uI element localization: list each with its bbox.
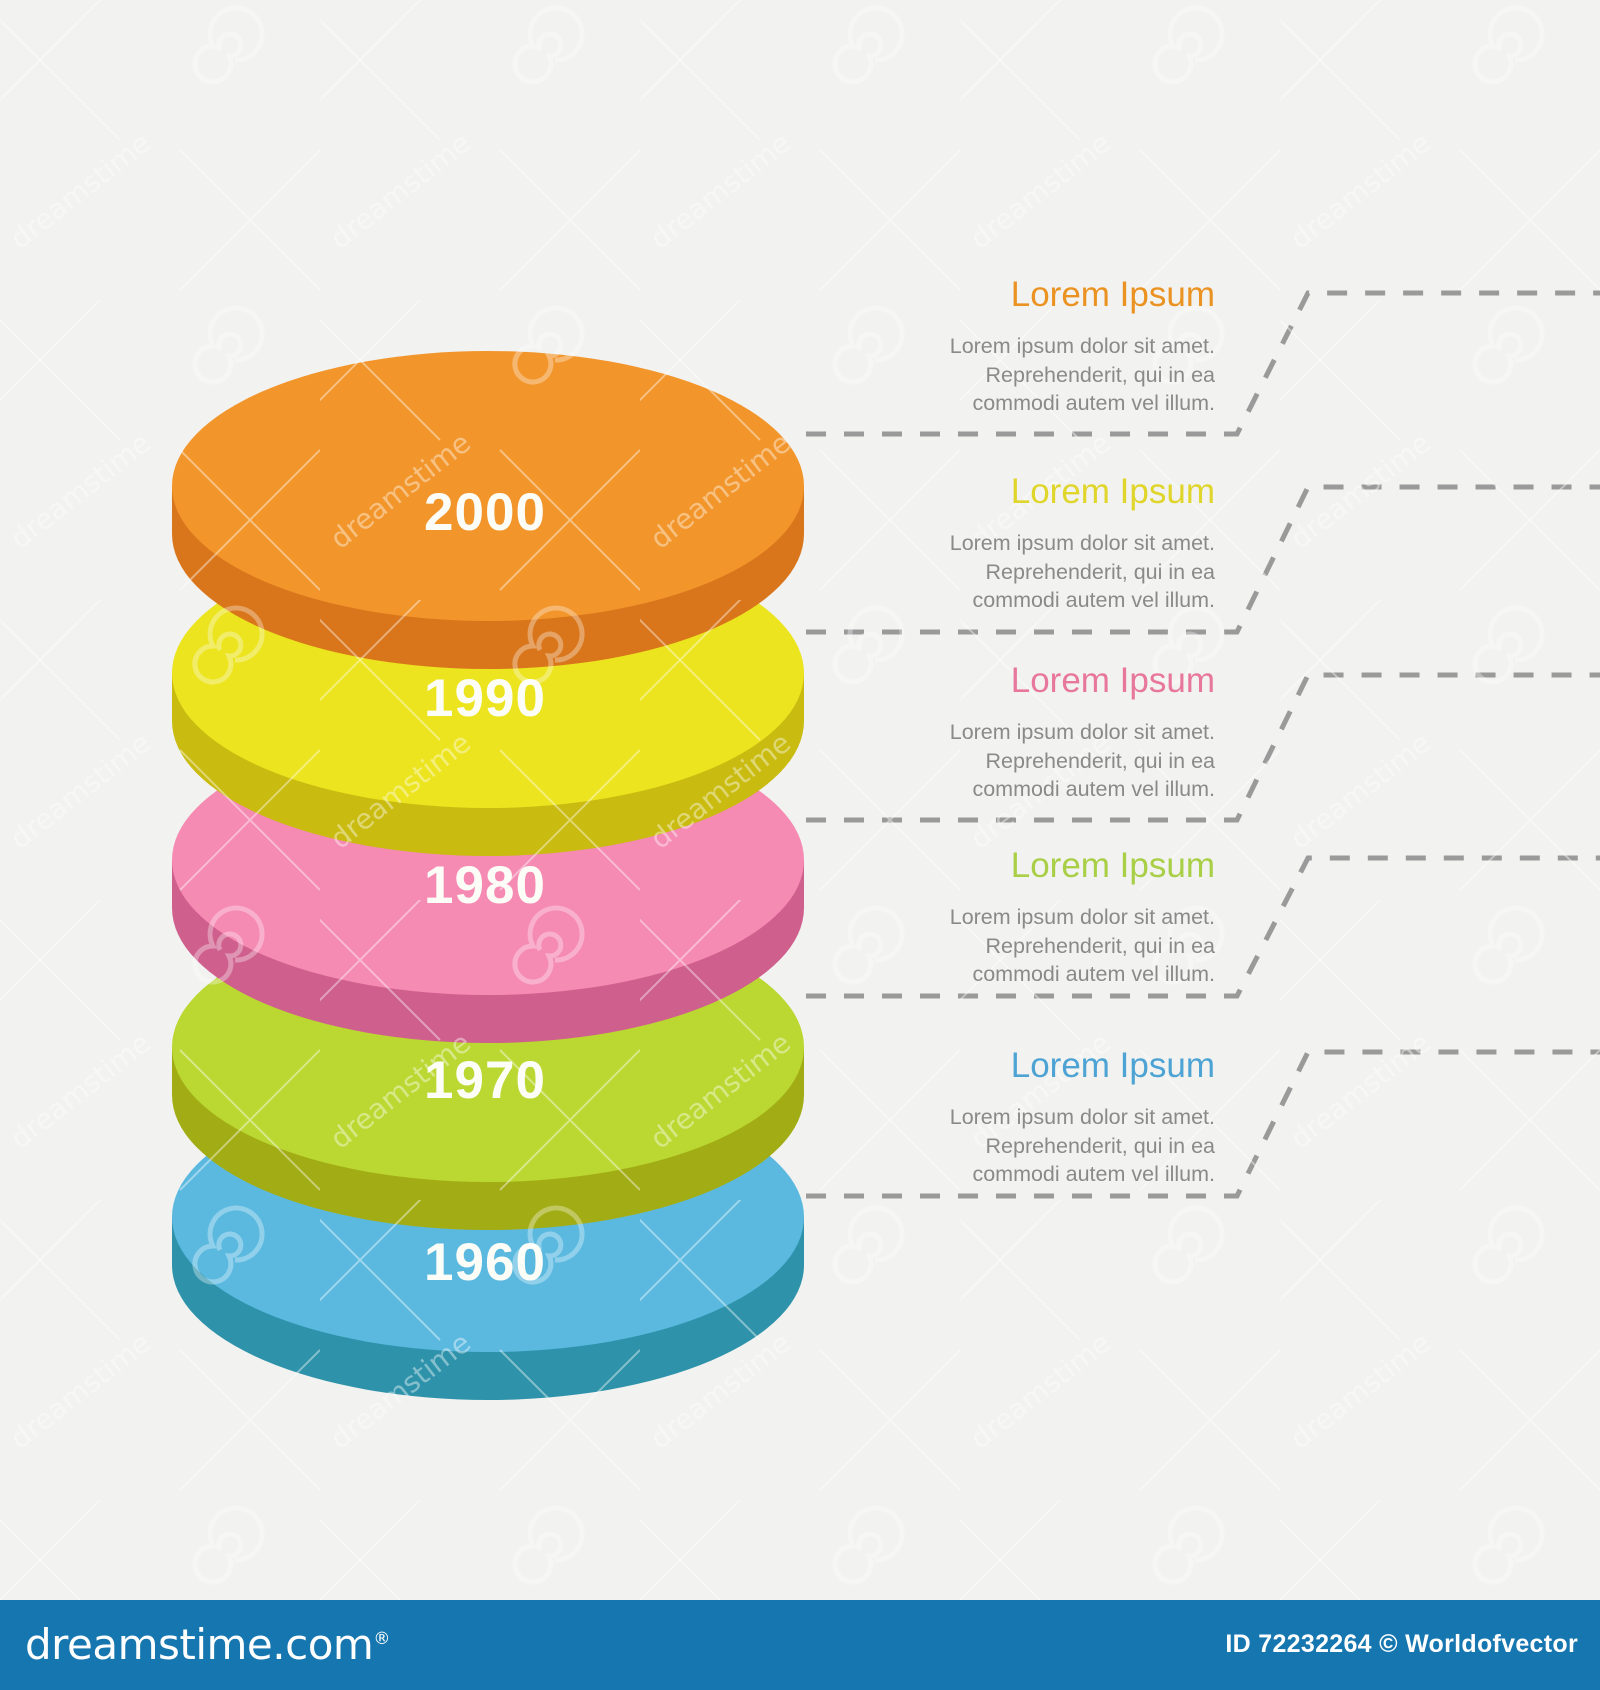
info-body: Lorem ipsum dolor sit amet. Reprehenderi… xyxy=(795,529,1215,614)
year-label-2000: 2000 xyxy=(355,482,615,543)
info-body-line: Lorem ipsum dolor sit amet. xyxy=(795,332,1215,360)
registered-mark-icon: ® xyxy=(373,1629,390,1649)
dreamstime-logo-text: dreamstime.com xyxy=(25,1620,373,1669)
info-body: Lorem ipsum dolor sit amet. Reprehenderi… xyxy=(795,1103,1215,1188)
info-body-line: commodi autem vel illum. xyxy=(795,389,1215,417)
info-body-line: commodi autem vel illum. xyxy=(795,586,1215,614)
info-body: Lorem ipsum dolor sit amet. Reprehenderi… xyxy=(795,718,1215,803)
info-block-1[interactable]: Lorem Ipsum Lorem ipsum dolor sit amet. … xyxy=(795,275,1215,417)
info-body-line: Reprehenderit, qui in ea xyxy=(795,558,1215,586)
info-body: Lorem ipsum dolor sit amet. Reprehenderi… xyxy=(795,332,1215,417)
info-body-line: Lorem ipsum dolor sit amet. xyxy=(795,718,1215,746)
info-body-line: Reprehenderit, qui in ea xyxy=(795,361,1215,389)
info-body-line: Lorem ipsum dolor sit amet. xyxy=(795,529,1215,557)
info-body-line: Reprehenderit, qui in ea xyxy=(795,1132,1215,1160)
stacked-disc-graphic xyxy=(172,176,804,1326)
footer-bar: dreamstime.com® ID 72232264 © Worldofvec… xyxy=(0,1600,1600,1690)
info-body-line: commodi autem vel illum. xyxy=(795,1160,1215,1188)
info-title: Lorem Ipsum xyxy=(795,1046,1215,1086)
image-credit: ID 72232264 © Worldofvector xyxy=(1225,1630,1578,1659)
year-label-1960: 1960 xyxy=(355,1232,615,1293)
year-label-1970: 1970 xyxy=(355,1050,615,1111)
info-title: Lorem Ipsum xyxy=(795,846,1215,886)
info-block-4[interactable]: Lorem Ipsum Lorem ipsum dolor sit amet. … xyxy=(795,846,1215,988)
info-title: Lorem Ipsum xyxy=(795,275,1215,315)
info-body: Lorem ipsum dolor sit amet. Reprehenderi… xyxy=(795,903,1215,988)
info-body-line: Reprehenderit, qui in ea xyxy=(795,932,1215,960)
info-block-3[interactable]: Lorem Ipsum Lorem ipsum dolor sit amet. … xyxy=(795,661,1215,803)
dreamstime-logo[interactable]: dreamstime.com® xyxy=(25,1620,390,1669)
info-body-line: commodi autem vel illum. xyxy=(795,775,1215,803)
year-label-1980: 1980 xyxy=(355,855,615,916)
year-label-1990: 1990 xyxy=(355,668,615,729)
info-block-2[interactable]: Lorem Ipsum Lorem ipsum dolor sit amet. … xyxy=(795,472,1215,614)
info-body-line: commodi autem vel illum. xyxy=(795,960,1215,988)
info-body-line: Reprehenderit, qui in ea xyxy=(795,747,1215,775)
info-title: Lorem Ipsum xyxy=(795,661,1215,701)
info-block-5[interactable]: Lorem Ipsum Lorem ipsum dolor sit amet. … xyxy=(795,1046,1215,1188)
info-body-line: Lorem ipsum dolor sit amet. xyxy=(795,903,1215,931)
info-body-line: Lorem ipsum dolor sit amet. xyxy=(795,1103,1215,1131)
info-title: Lorem Ipsum xyxy=(795,472,1215,512)
